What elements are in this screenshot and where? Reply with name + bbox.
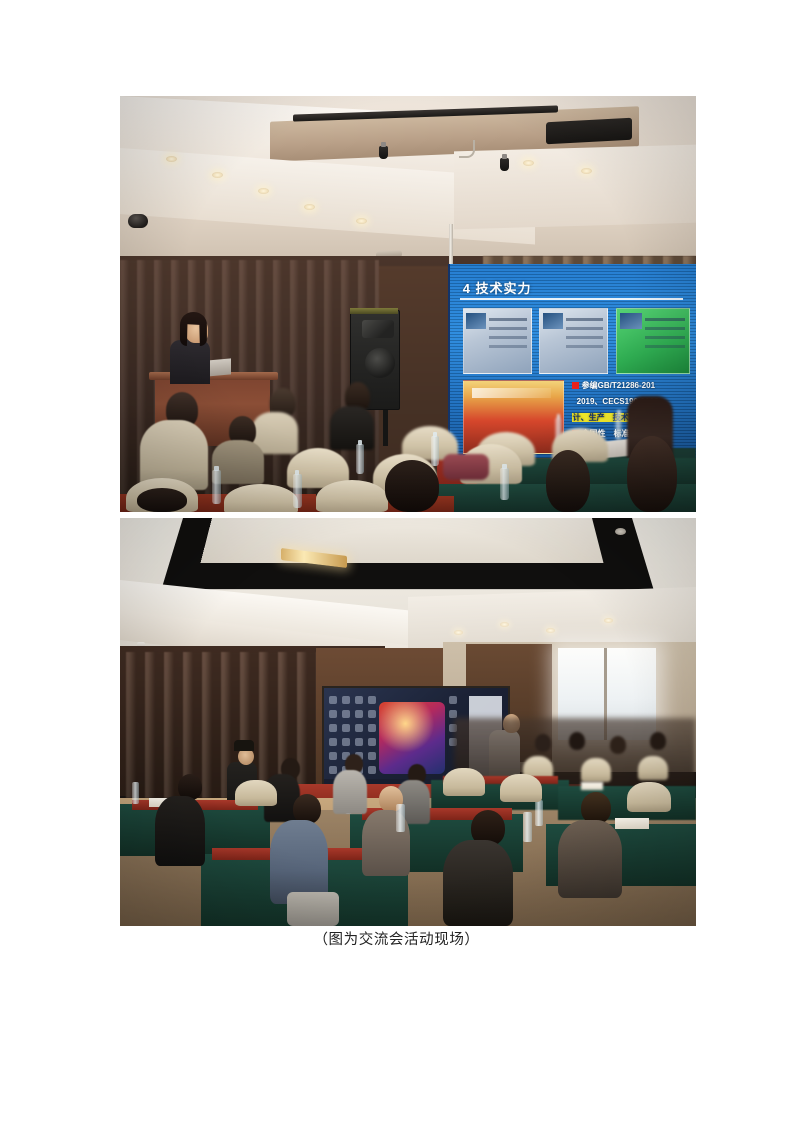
audience-head bbox=[650, 732, 666, 750]
desktop-icon bbox=[329, 724, 337, 732]
desktop-icon bbox=[342, 696, 350, 704]
pa-speaker-top bbox=[350, 308, 398, 314]
speaker-stand bbox=[383, 406, 388, 446]
track-light-icon bbox=[500, 158, 509, 171]
desktop-icon bbox=[449, 696, 457, 704]
document-page: 4 技术实力 参编GB/T21286-201 2019、CECS190-2008… bbox=[0, 0, 793, 1122]
downlight-icon bbox=[581, 168, 592, 174]
audience-body bbox=[330, 406, 374, 450]
water-bottle bbox=[500, 468, 509, 500]
desktop-icon bbox=[449, 710, 457, 718]
water-bottle bbox=[132, 782, 139, 804]
desktop-icon bbox=[368, 724, 376, 732]
water-bottle bbox=[356, 444, 364, 474]
photo-2-scene bbox=[120, 518, 696, 926]
slide-heading: 4 技术实力 bbox=[463, 278, 532, 297]
audience-body-foreground bbox=[443, 840, 513, 926]
water-bottle bbox=[431, 436, 439, 466]
audience-head-foreground bbox=[137, 488, 187, 512]
audience-head-foreground bbox=[627, 436, 677, 512]
chair-cover bbox=[235, 780, 277, 806]
photo-1-scene: 4 技术实力 参编GB/T21286-201 2019、CECS190-2008… bbox=[120, 96, 696, 512]
chair-cover bbox=[581, 758, 611, 782]
slide-bullet-text: 参编GB/T21286-201 bbox=[582, 381, 655, 390]
desktop-icon bbox=[329, 738, 337, 746]
track-light-icon bbox=[379, 146, 388, 159]
ceiling-coffer-inner bbox=[201, 518, 604, 563]
jacket-on-chair bbox=[443, 454, 489, 480]
chair-cover bbox=[443, 768, 485, 796]
desktop-icon bbox=[368, 710, 376, 718]
chair-cover bbox=[316, 480, 388, 512]
speaker-horn-icon bbox=[362, 320, 394, 338]
desktop-icon bbox=[368, 752, 376, 760]
bullet-marker-icon bbox=[572, 382, 579, 389]
desktop-icon bbox=[342, 738, 350, 746]
dome-camera-icon bbox=[128, 214, 148, 228]
desktop-icon bbox=[368, 766, 376, 774]
audience-body bbox=[155, 796, 205, 866]
slide-bullet-line: 参编GB/T21286-201 bbox=[572, 380, 655, 391]
downlight-icon bbox=[166, 156, 177, 162]
desktop-icon bbox=[368, 738, 376, 746]
figure-caption: （图为交流会活动现场） bbox=[0, 928, 793, 949]
desktop-icon bbox=[329, 696, 337, 704]
hat-icon bbox=[234, 740, 254, 751]
audience-head-foreground bbox=[546, 450, 590, 512]
desktop-icon bbox=[355, 738, 363, 746]
document-paper bbox=[581, 782, 603, 790]
presenter-body bbox=[170, 340, 210, 384]
desktop-icon bbox=[355, 724, 363, 732]
slide-heading-rule bbox=[460, 298, 683, 300]
chair-cover bbox=[627, 782, 671, 812]
conference-photo-presenter: 4 技术实力 参编GB/T21286-201 2019、CECS190-2008… bbox=[120, 96, 696, 512]
water-bottle bbox=[615, 414, 622, 440]
desktop-icon bbox=[342, 710, 350, 718]
desktop-icon bbox=[329, 766, 337, 774]
chair-cover bbox=[638, 756, 668, 780]
ceiling-hook bbox=[459, 140, 475, 158]
water-bottle bbox=[523, 812, 532, 842]
speaker-woofer-icon bbox=[365, 348, 395, 378]
chair-cover bbox=[500, 774, 542, 802]
desktop-icon bbox=[355, 696, 363, 704]
audience-head bbox=[535, 734, 551, 752]
desktop-icon bbox=[329, 710, 337, 718]
water-bottle bbox=[535, 800, 543, 826]
slide-thumbnail bbox=[616, 308, 690, 374]
projector bbox=[546, 118, 632, 145]
water-bottle bbox=[212, 470, 221, 504]
audience-head bbox=[610, 736, 626, 754]
audience-head-foreground bbox=[385, 460, 439, 512]
audience-body-foreground bbox=[558, 820, 622, 898]
desktop-icon bbox=[355, 710, 363, 718]
desktop-icon bbox=[368, 696, 376, 704]
slide-thumbnail bbox=[539, 308, 608, 374]
slide-thumbnail bbox=[463, 308, 532, 374]
audience-body bbox=[333, 770, 367, 814]
water-bottle bbox=[396, 804, 405, 832]
desktop-icon bbox=[342, 724, 350, 732]
audience-head bbox=[569, 732, 585, 750]
audience-legs bbox=[287, 892, 339, 926]
conference-photo-room-wide bbox=[120, 518, 696, 926]
desktop-wallpaper bbox=[379, 702, 445, 774]
document-paper bbox=[615, 818, 649, 829]
downlight-icon bbox=[604, 618, 613, 623]
desktop-icon bbox=[329, 752, 337, 760]
chair-cover bbox=[224, 484, 298, 512]
water-bottle bbox=[293, 474, 302, 508]
ceiling-panel-right bbox=[454, 145, 696, 230]
